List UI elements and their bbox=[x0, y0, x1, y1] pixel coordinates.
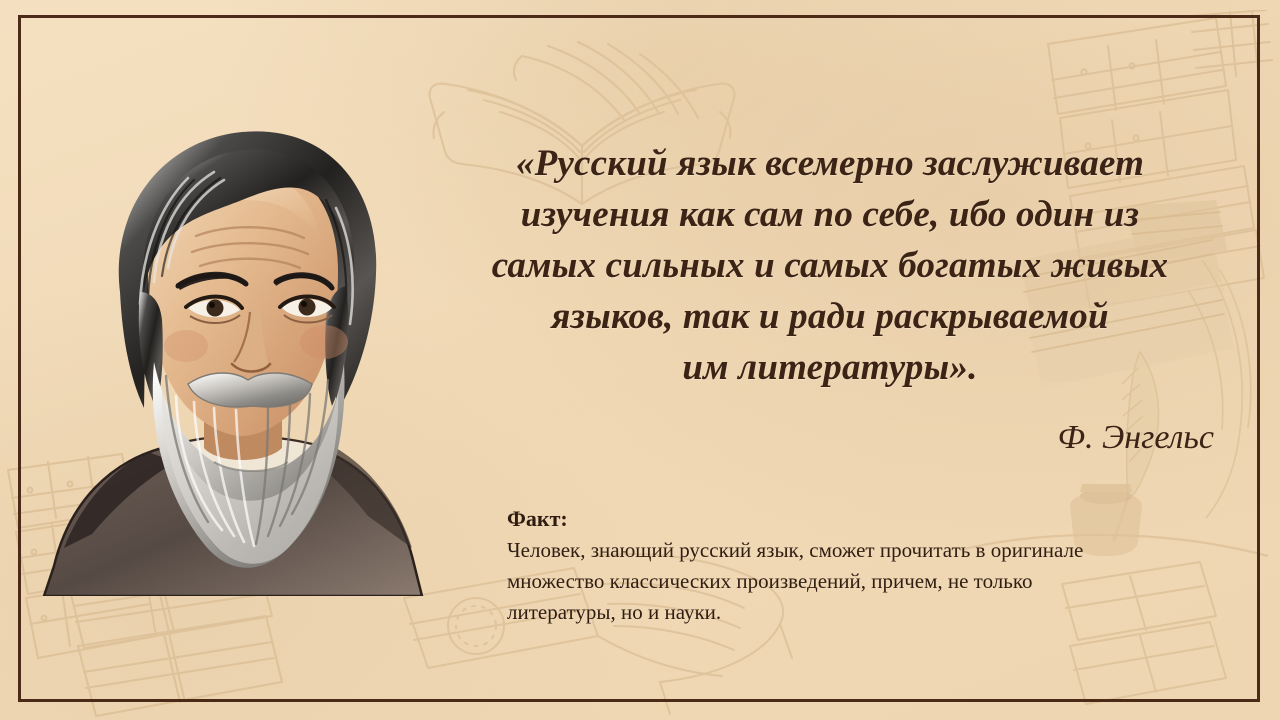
fact-label: Факт: bbox=[507, 505, 1227, 533]
fact-body: Человек, знающий русский язык, сможет пр… bbox=[507, 535, 1227, 628]
fact-block: Факт: Человек, знающий русский язык, смо… bbox=[507, 505, 1227, 628]
quote-line: языков, так и ради раскрываемой bbox=[551, 296, 1109, 337]
quote-block: «Русский язык всемерно заслуживает изуче… bbox=[430, 138, 1230, 459]
fact-line: Человек, знающий русский язык, сможет пр… bbox=[507, 535, 1227, 566]
quote-line: изучения как сам по себе, ибо один из bbox=[521, 194, 1139, 235]
quote-author: Ф. Энгельс bbox=[430, 417, 1214, 459]
portrait-engels bbox=[36, 96, 486, 596]
fact-line: множество классических произведений, при… bbox=[507, 566, 1227, 597]
slide-canvas: «Русский язык всемерно заслуживает изуче… bbox=[0, 0, 1280, 720]
quote-line: самых сильных и самых богатых живых bbox=[492, 245, 1169, 286]
quote-text: «Русский язык всемерно заслуживает изуче… bbox=[430, 138, 1230, 393]
fact-line: литературы, но и науки. bbox=[507, 597, 1227, 628]
quote-line: им литературы». bbox=[682, 347, 977, 388]
quote-line: «Русский язык всемерно заслуживает bbox=[516, 143, 1144, 184]
